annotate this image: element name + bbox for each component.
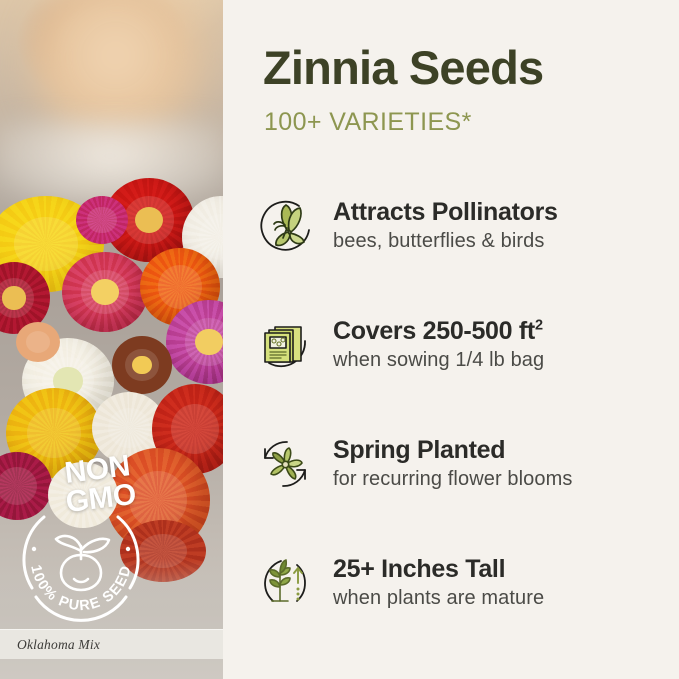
content-panel: Zinnia Seeds 100+ VARIETIES*: [223, 0, 679, 679]
feature-text: Attracts Pollinators bees, butterflies &…: [319, 198, 558, 254]
non-gmo-badge: NON GMO: [6, 455, 166, 620]
feature-heading-superscript: 2: [535, 317, 543, 333]
feature-item: Spring Planted for recurring flower bloo…: [251, 420, 661, 507]
seed-packet-icon: [251, 311, 319, 379]
plant-height-icon: [251, 549, 319, 617]
feature-text: Covers 250-500 ft2 when sowing 1/4 lb ba…: [319, 317, 544, 373]
feature-item: Covers 250-500 ft2 when sowing 1/4 lb ba…: [251, 301, 661, 388]
flower-peach-small: [16, 322, 60, 362]
feature-subtext: when plants are mature: [333, 587, 544, 610]
feature-text: 25+ Inches Tall when plants are mature: [319, 555, 544, 611]
flower-magenta-1: [76, 196, 128, 244]
photo-caption: Oklahoma Mix: [17, 637, 100, 653]
page-subtitle: 100+ VARIETIES*: [264, 108, 472, 137]
feature-heading: 25+ Inches Tall: [333, 555, 544, 584]
feature-heading: Covers 250-500 ft2: [333, 317, 544, 346]
feature-subtext: for recurring flower blooms: [333, 468, 572, 491]
page-title: Zinnia Seeds: [263, 44, 543, 91]
feature-item: Attracts Pollinators bees, butterflies &…: [251, 182, 661, 269]
feature-item: 25+ Inches Tall when plants are mature: [251, 539, 661, 626]
feature-heading: Attracts Pollinators: [333, 198, 558, 227]
feature-heading-main: Covers 250-500 ft: [333, 317, 535, 345]
photo-caption-bar: Oklahoma Mix: [0, 629, 223, 659]
feature-text: Spring Planted for recurring flower bloo…: [319, 436, 572, 492]
feature-subtext: when sowing 1/4 lb bag: [333, 349, 544, 372]
flower-brown-center: [112, 336, 172, 394]
flower-cycle-icon: [251, 430, 319, 498]
butterfly-icon: [251, 192, 319, 260]
feature-heading: Spring Planted: [333, 436, 572, 465]
feature-list: Attracts Pollinators bees, butterflies &…: [251, 182, 661, 658]
feature-subtext: bees, butterflies & birds: [333, 230, 558, 253]
flower-pink-mid: [62, 252, 148, 332]
pure-seed-ring: 100% PURE SEED: [14, 493, 148, 627]
product-infographic: NON GMO: [0, 0, 679, 679]
product-photo: NON GMO: [0, 0, 223, 679]
